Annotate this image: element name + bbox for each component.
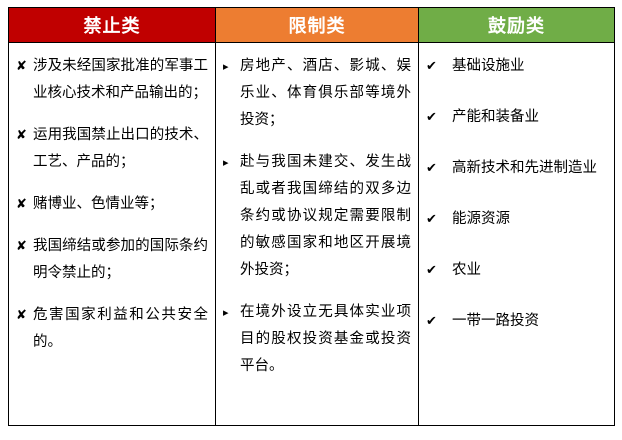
table-row: ✘ 涉及未经国家批准的军事工业核心技术和产品输出的； ✘ 运用我国禁止出口的技术… [9, 43, 615, 426]
list-item: ▸ 赴与我国未建交、发生战乱或者我国缔结的双多边条约或协议规定需要限制的敏感国家… [223, 149, 411, 284]
list-item: ✔ 能源资源 [426, 206, 607, 233]
cell-encouraged: ✔ 基础设施业 ✔ 产能和装备业 ✔ 高新技术和先进制造业 ✔ [419, 43, 615, 426]
list-item: ✔ 农业 [426, 257, 607, 284]
list-item-text: 高新技术和先进制造业 [452, 160, 597, 176]
list-item-text: 能源资源 [452, 211, 510, 227]
list-item-text: 农业 [452, 262, 481, 278]
triangle-right-icon: ▸ [223, 299, 229, 326]
cross-icon: ✘ [16, 302, 27, 329]
list-item-text: 基础设施业 [452, 58, 525, 74]
check-icon: ✔ [426, 104, 437, 131]
list-item: ▸ 在境外设立无具体实业项目的股权投资基金或投资平台。 [223, 299, 411, 380]
list-item-text: 在境外设立无具体实业项目的股权投资基金或投资平台。 [240, 304, 411, 374]
cross-icon: ✘ [16, 53, 27, 80]
list-item-text: 危害国家利益和公共安全的。 [33, 307, 208, 350]
restricted-item-list: ▸ 房地产、酒店、影城、娱乐业、体育俱乐部等境外投资； ▸ 赴与我国未建交、发生… [223, 53, 411, 380]
triangle-right-icon: ▸ [223, 53, 229, 80]
table-body: ✘ 涉及未经国家批准的军事工业核心技术和产品输出的； ✘ 运用我国禁止出口的技术… [9, 43, 615, 426]
column-header-prohibited: 禁止类 [9, 8, 216, 43]
list-item: ✔ 产能和装备业 [426, 104, 607, 131]
policy-category-table: 禁止类 限制类 鼓励类 ✘ 涉及未经国家批准的军事工业核心技术和产品输出的； ✘… [8, 7, 615, 426]
list-item: ✘ 危害国家利益和公共安全的。 [16, 302, 208, 356]
column-header-restricted: 限制类 [216, 8, 419, 43]
list-item: ✘ 涉及未经国家批准的军事工业核心技术和产品输出的； [16, 53, 208, 107]
list-item-text: 一带一路投资 [452, 313, 539, 329]
cell-restricted: ▸ 房地产、酒店、影城、娱乐业、体育俱乐部等境外投资； ▸ 赴与我国未建交、发生… [216, 43, 419, 426]
cross-icon: ✘ [16, 122, 27, 149]
list-item: ✔ 一带一路投资 [426, 308, 607, 335]
check-icon: ✔ [426, 155, 437, 182]
cross-icon: ✘ [16, 233, 27, 260]
list-item: ✘ 赌博业、色情业等； [16, 191, 208, 218]
list-item-text: 产能和装备业 [452, 109, 539, 125]
list-item-text: 房地产、酒店、影城、娱乐业、体育俱乐部等境外投资； [240, 58, 411, 128]
column-header-encouraged: 鼓励类 [419, 8, 615, 43]
list-item: ✔ 基础设施业 [426, 53, 607, 80]
list-item-text: 我国缔结或参加的国际条约明令禁止的； [33, 238, 208, 281]
policy-table-container: 禁止类 限制类 鼓励类 ✘ 涉及未经国家批准的军事工业核心技术和产品输出的； ✘… [8, 7, 614, 426]
list-item-text: 运用我国禁止出口的技术、工艺、产品的； [33, 127, 208, 170]
check-icon: ✔ [426, 308, 437, 335]
list-item: ✘ 我国缔结或参加的国际条约明令禁止的； [16, 233, 208, 287]
table-header-row: 禁止类 限制类 鼓励类 [9, 8, 615, 43]
cell-prohibited: ✘ 涉及未经国家批准的军事工业核心技术和产品输出的； ✘ 运用我国禁止出口的技术… [9, 43, 216, 426]
list-item: ▸ 房地产、酒店、影城、娱乐业、体育俱乐部等境外投资； [223, 53, 411, 134]
list-item: ✘ 运用我国禁止出口的技术、工艺、产品的； [16, 122, 208, 176]
check-icon: ✔ [426, 257, 437, 284]
list-item-text: 赌博业、色情业等； [33, 196, 164, 212]
check-icon: ✔ [426, 206, 437, 233]
list-item-text: 涉及未经国家批准的军事工业核心技术和产品输出的； [33, 58, 208, 101]
cross-icon: ✘ [16, 191, 27, 218]
triangle-right-icon: ▸ [223, 149, 229, 176]
prohibited-item-list: ✘ 涉及未经国家批准的军事工业核心技术和产品输出的； ✘ 运用我国禁止出口的技术… [16, 53, 208, 356]
list-item-text: 赴与我国未建交、发生战乱或者我国缔结的双多边条约或协议规定需要限制的敏感国家和地… [240, 154, 411, 278]
check-icon: ✔ [426, 53, 437, 80]
encouraged-item-list: ✔ 基础设施业 ✔ 产能和装备业 ✔ 高新技术和先进制造业 ✔ [426, 53, 607, 335]
list-item: ✔ 高新技术和先进制造业 [426, 155, 607, 182]
